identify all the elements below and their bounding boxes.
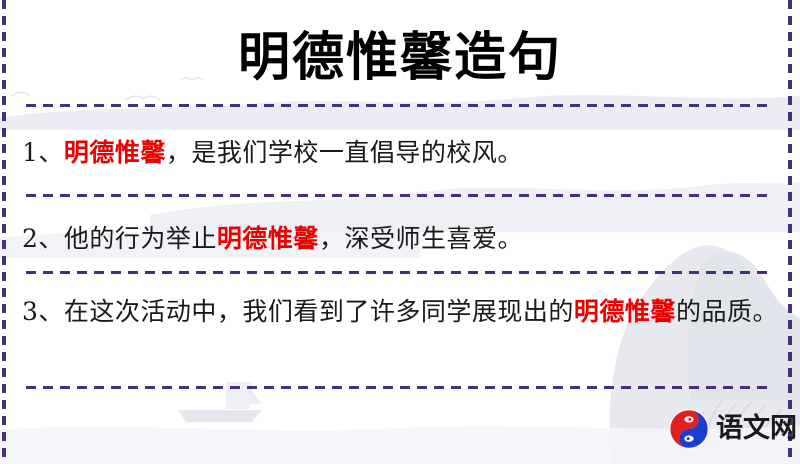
sentence-2-idiom: 明德惟馨 [217,224,319,253]
sentence-item-3: 3、在这次活动中，我们看到了许多同学展现出的明德惟馨的品质。 [22,290,778,334]
sentence-3-idiom: 明德惟馨 [574,297,676,326]
sentence-2-number: 2、 [22,224,64,253]
sentence-1-number: 1、 [22,138,64,167]
sentence-2-text-after: ，深受师生喜爱。 [319,224,523,253]
sentence-1-idiom: 明德惟馨 [64,138,166,167]
sentence-3-text-before: 在这次活动中，我们看到了许多同学展现出的 [64,297,574,326]
divider-rule-2 [26,194,774,197]
sentence-2-text-before: 他的行为举止 [64,224,217,253]
sentence-3-number: 3、 [22,297,64,326]
page-border-right [788,0,792,464]
sentence-item-1: 1、明德惟馨，是我们学校一直倡导的校风。 [22,131,778,175]
sentence-worksheet-page: 明德惟馨造句 1、明德惟馨，是我们学校一直倡导的校风。 2、他的行为举止明德惟馨… [0,0,800,464]
sentence-item-2: 2、他的行为举止明德惟馨，深受师生喜爱。 [22,217,778,261]
logo-text: 语文网 [716,408,797,450]
divider-rule-1 [26,104,774,107]
sentence-1-text: ，是我们学校一直倡导的校风。 [166,138,523,167]
page-title: 明德惟馨造句 [0,26,800,90]
divider-rule-4 [26,386,774,389]
page-border-left [2,0,6,464]
site-logo[interactable]: 语文网 [668,408,797,450]
yinyang-circle-icon [668,408,710,450]
sentence-3-text-after: 的品质。 [676,297,778,326]
divider-rule-3 [26,271,774,274]
